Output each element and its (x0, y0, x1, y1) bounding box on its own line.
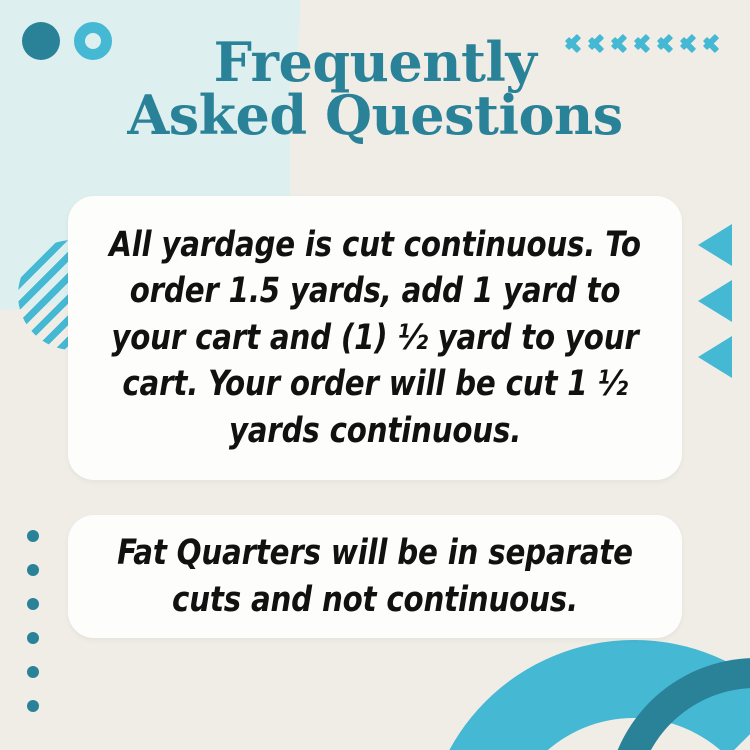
triangle-left-icon (698, 280, 732, 322)
dot-icon (27, 598, 39, 610)
dot-column-decoration (27, 530, 39, 712)
faq-text: Fat Quarters will be in separate cuts an… (89, 530, 660, 623)
page-title: Frequently Asked Questions (0, 36, 750, 142)
triangle-left-icon (698, 336, 732, 378)
faq-card-yardage: All yardage is cut continuous. To order … (68, 196, 682, 480)
title-line-2: Asked Questions (0, 89, 750, 142)
faq-text: All yardage is cut continuous. To order … (89, 222, 660, 455)
faq-poster: Frequently Asked Questions All yardage i… (0, 0, 750, 750)
dot-icon (27, 700, 39, 712)
dot-icon (27, 632, 39, 644)
dot-icon (27, 564, 39, 576)
faq-card-fat-quarters: Fat Quarters will be in separate cuts an… (68, 515, 682, 638)
triangle-left-icon (698, 224, 732, 266)
dot-icon (27, 666, 39, 678)
dot-icon (27, 530, 39, 542)
